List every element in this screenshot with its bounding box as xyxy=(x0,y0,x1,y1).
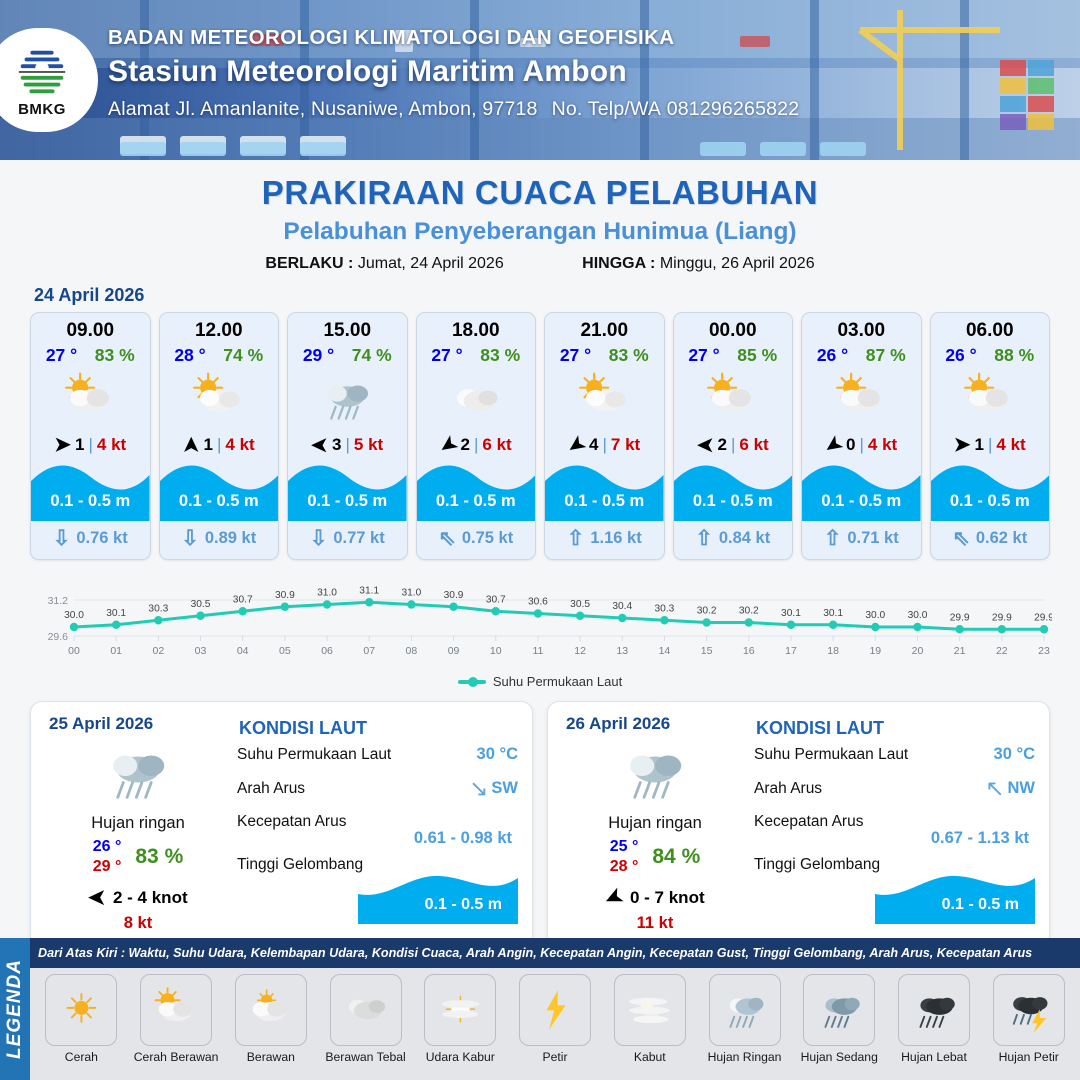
svg-text:01: 01 xyxy=(110,645,122,657)
panel-gust: 8 kt xyxy=(45,914,231,933)
legend-item: Hujan Petir xyxy=(981,974,1076,1064)
current-direction-arrow-icon: ⇖ xyxy=(438,526,456,551)
svg-text:30.0: 30.0 xyxy=(64,610,84,621)
panel-right: KONDISI LAUT Suhu Permukaan Laut 30 °C A… xyxy=(748,714,1035,936)
panel-wind-row: ➤ 2 - 4 knot xyxy=(45,887,231,908)
card-weather-icon xyxy=(31,368,150,430)
legend-note: Dari Atas Kiri : Waktu, Suhu Udara, Kele… xyxy=(38,946,1032,960)
legend-item-label: Udara Kabur xyxy=(426,1050,495,1064)
panel-wave-height: 0.1 - 0.5 m xyxy=(425,896,502,914)
legend-section: LEGENDA Dari Atas Kiri : Waktu, Suhu Uda… xyxy=(0,938,1080,1080)
card-wave-graphic: 0.1 - 0.5 m xyxy=(545,459,664,521)
sea-row-key: Kecepatan Arus xyxy=(237,813,346,831)
validity-line: BERLAKU : Jumat, 24 April 2026 HINGGA : … xyxy=(0,255,1080,273)
current-direction-arrow-icon: ↖ xyxy=(985,777,1004,800)
card-current-row: ⇧ 0.71 kt xyxy=(802,521,921,559)
svg-text:30.9: 30.9 xyxy=(444,590,464,601)
card-wave-height: 0.1 - 0.5 m xyxy=(31,492,150,511)
svg-text:19: 19 xyxy=(869,645,881,657)
card-wave-graphic: 0.1 - 0.5 m xyxy=(160,459,279,521)
current-direction-arrow-icon: ⇩ xyxy=(53,526,71,551)
card-wind-row: ➤ 1 | 4 kt xyxy=(931,430,1050,459)
svg-text:06: 06 xyxy=(321,645,333,657)
legend-item-label: Petir xyxy=(543,1050,568,1064)
legend-item-icon-lightning xyxy=(519,974,591,1046)
sea-row-key: Suhu Permukaan Laut xyxy=(237,746,391,764)
svg-text:30.7: 30.7 xyxy=(486,594,506,605)
forecast-card: 00.00 27 ° 85 % ➤ 2 | 6 kt 0.1 - 0.5 m ⇧… xyxy=(673,312,794,560)
card-wind-row: ➤ 2 | 6 kt xyxy=(674,430,793,459)
card-current-speed: 0.77 kt xyxy=(333,529,384,548)
legend-item: Berawan xyxy=(223,974,318,1064)
current-direction-arrow-icon: ⇧ xyxy=(824,526,842,551)
card-temp-humidity-row: 29 ° 74 % xyxy=(288,344,407,366)
panel-date: 26 April 2026 xyxy=(566,714,748,734)
legend-item-icon-rain-light xyxy=(709,974,781,1046)
legend-item-label: Hujan Petir xyxy=(999,1050,1059,1064)
svg-text:29.9: 29.9 xyxy=(1034,612,1052,623)
sea-row-value: 30 °C xyxy=(477,745,518,764)
card-wave-graphic: 0.1 - 0.5 m xyxy=(802,459,921,521)
card-weather-icon xyxy=(417,368,536,430)
card-wave-graphic: 0.1 - 0.5 m xyxy=(674,459,793,521)
svg-text:30.0: 30.0 xyxy=(908,610,928,621)
forecast-day-label: 24 April 2026 xyxy=(34,285,1080,306)
card-wind-direction: 0 xyxy=(846,435,855,455)
title-block: PRAKIRAAN CUACA PELABUHAN Pelabuhan Peny… xyxy=(0,160,1080,273)
card-current-row: ⇧ 1.16 kt xyxy=(545,521,664,559)
card-wind-row: ➤ 4 | 7 kt xyxy=(545,430,664,459)
card-wind-speed: 4 kt xyxy=(97,435,126,455)
card-temperature: 28 ° xyxy=(174,345,205,366)
svg-text:30.7: 30.7 xyxy=(233,594,253,605)
svg-text:30.5: 30.5 xyxy=(570,599,590,610)
card-time: 18.00 xyxy=(417,313,536,344)
wind-direction-arrow-icon: ➤ xyxy=(821,432,846,458)
svg-text:17: 17 xyxy=(785,645,797,657)
panel-temp-col: 26 ° 29 ° xyxy=(93,837,122,877)
legend-item: Petir xyxy=(508,974,603,1064)
sea-row-value: 30 °C xyxy=(994,745,1035,764)
card-wind-speed: 5 kt xyxy=(354,435,383,455)
card-humidity: 83 % xyxy=(480,345,520,366)
page-subtitle: Pelabuhan Penyeberangan Hunimua (Liang) xyxy=(0,218,1080,246)
current-direction-value: SW xyxy=(491,779,518,798)
sea-surface-temperature-chart: 31.229.630.00030.10130.30230.50330.70430… xyxy=(28,570,1052,670)
svg-text:23: 23 xyxy=(1038,645,1050,657)
card-temp-humidity-row: 26 ° 87 % xyxy=(802,344,921,366)
card-wind-row: ➤ 1 | 4 kt xyxy=(31,430,150,459)
svg-text:30.0: 30.0 xyxy=(865,610,885,621)
card-wind-row: ➤ 0 | 4 kt xyxy=(802,430,921,459)
current-direction-wrap: ↘ SW xyxy=(469,777,518,800)
card-temperature: 27 ° xyxy=(560,345,591,366)
legend-item-icon-rain-thunder xyxy=(993,974,1065,1046)
wind-direction-arrow-icon: ➤ xyxy=(88,887,106,908)
svg-text:21: 21 xyxy=(954,645,966,657)
panel-temperature-block: 26 ° 29 ° 83 % xyxy=(45,837,231,877)
svg-text:22: 22 xyxy=(996,645,1008,657)
svg-text:30.9: 30.9 xyxy=(275,590,295,601)
current-direction-arrow-icon: ⇩ xyxy=(310,526,328,551)
separator: | xyxy=(474,435,478,455)
svg-text:30.3: 30.3 xyxy=(655,603,675,614)
card-wave-height: 0.1 - 0.5 m xyxy=(674,492,793,511)
card-weather-icon xyxy=(288,368,407,430)
bmkg-logo-text: BMKG xyxy=(18,101,66,118)
card-temperature: 27 ° xyxy=(46,345,77,366)
current-direction-arrow-icon: ⇖ xyxy=(952,526,970,551)
svg-text:15: 15 xyxy=(701,645,713,657)
separator: | xyxy=(988,435,992,455)
sea-row-key: Arah Arus xyxy=(237,780,305,798)
daily-forecast-panel: 25 April 2026 Hujan ringan 26 ° 29 ° 83 … xyxy=(30,701,533,947)
panel-temperature-block: 25 ° 28 ° 84 % xyxy=(562,837,748,877)
legend-item: Cerah Berawan xyxy=(129,974,224,1064)
svg-text:18: 18 xyxy=(827,645,839,657)
legend-item: Hujan Sedang xyxy=(792,974,887,1064)
svg-text:30.3: 30.3 xyxy=(148,603,168,614)
panel-wind-range: 2 - 4 knot xyxy=(113,888,188,908)
agency-name: BADAN METEOROLOGI KLIMATOLOGI DAN GEOFIS… xyxy=(108,26,799,50)
forecast-card: 03.00 26 ° 87 % ➤ 0 | 4 kt 0.1 - 0.5 m ⇧… xyxy=(801,312,922,560)
forecast-card: 12.00 28 ° 74 % ➤ 1 | 4 kt 0.1 - 0.5 m ⇩… xyxy=(159,312,280,560)
legend-item-icon-fog xyxy=(614,974,686,1046)
card-time: 09.00 xyxy=(31,313,150,344)
sea-row: Suhu Permukaan Laut 30 °C xyxy=(754,745,1035,764)
svg-text:31.1: 31.1 xyxy=(359,585,379,596)
card-current-row: ⇧ 0.84 kt xyxy=(674,521,793,559)
phone-number: 081296265822 xyxy=(667,98,800,120)
wind-direction-arrow-icon: ➤ xyxy=(181,437,201,454)
card-wave-height: 0.1 - 0.5 m xyxy=(802,492,921,511)
current-direction-value: NW xyxy=(1008,779,1036,798)
legend-item-icon-sun xyxy=(45,974,117,1046)
forecast-card: 18.00 27 ° 83 % ➤ 2 | 6 kt 0.1 - 0.5 m ⇖… xyxy=(416,312,537,560)
card-humidity: 83 % xyxy=(95,345,135,366)
card-current-speed: 0.62 kt xyxy=(976,529,1027,548)
panel-wave-graphic: 0.1 - 0.5 m xyxy=(237,870,518,924)
card-wave-height: 0.1 - 0.5 m xyxy=(288,492,407,511)
card-wind-direction: 4 xyxy=(589,435,598,455)
svg-text:30.5: 30.5 xyxy=(191,599,211,610)
legend-item-label: Hujan Ringan xyxy=(708,1050,782,1064)
card-weather-icon xyxy=(802,368,921,430)
card-humidity: 85 % xyxy=(737,345,777,366)
sea-row-key: Kecepatan Arus xyxy=(754,813,863,831)
card-wave-height: 0.1 - 0.5 m xyxy=(931,492,1050,511)
panel-temp-min: 25 ° xyxy=(610,837,639,857)
card-wind-direction: 1 xyxy=(75,435,84,455)
svg-text:04: 04 xyxy=(237,645,249,657)
panel-temp-max: 29 ° xyxy=(93,857,122,877)
card-temperature: 27 ° xyxy=(431,345,462,366)
page-title: PRAKIRAAN CUACA PELABUHAN xyxy=(0,174,1080,212)
card-temp-humidity-row: 27 ° 83 % xyxy=(31,344,150,366)
forecast-card: 15.00 29 ° 74 % ➤ 3 | 5 kt 0.1 - 0.5 m ⇩… xyxy=(287,312,408,560)
card-humidity: 74 % xyxy=(352,345,392,366)
panel-right: KONDISI LAUT Suhu Permukaan Laut 30 °C A… xyxy=(231,714,518,936)
card-time: 12.00 xyxy=(160,313,279,344)
card-current-row: ⇩ 0.77 kt xyxy=(288,521,407,559)
header-text-block: BADAN METEOROLOGI KLIMATOLOGI DAN GEOFIS… xyxy=(108,26,799,121)
card-current-speed: 0.89 kt xyxy=(205,529,256,548)
current-direction-arrow-icon: ⇧ xyxy=(695,526,713,551)
card-temperature: 26 ° xyxy=(817,345,848,366)
card-wind-direction: 3 xyxy=(332,435,341,455)
valid-until-value: Minggu, 26 April 2026 xyxy=(660,255,815,272)
card-wind-row: ➤ 1 | 4 kt xyxy=(160,430,279,459)
svg-text:31.2: 31.2 xyxy=(48,595,69,607)
card-weather-icon xyxy=(674,368,793,430)
current-direction-arrow-icon: ⇧ xyxy=(567,526,585,551)
svg-text:14: 14 xyxy=(659,645,671,657)
legend-item-label: Hujan Lebat xyxy=(901,1050,967,1064)
card-wind-direction: 1 xyxy=(975,435,984,455)
phone-label: No. Telp/WA xyxy=(552,98,662,120)
page-header: BMKG BADAN METEOROLOGI KLIMATOLOGI DAN G… xyxy=(0,0,1080,160)
chart-legend: Suhu Permukaan Laut xyxy=(0,674,1080,689)
svg-text:11: 11 xyxy=(532,645,543,657)
chart-legend-marker-icon xyxy=(458,680,486,684)
legend-item: Berawan Tebal xyxy=(318,974,413,1064)
legend-item: Udara Kabur xyxy=(413,974,508,1064)
legend-item-icon-clouds xyxy=(330,974,402,1046)
panel-wave-graphic: 0.1 - 0.5 m xyxy=(754,870,1035,924)
svg-text:02: 02 xyxy=(153,645,165,657)
card-wave-height: 0.1 - 0.5 m xyxy=(417,492,536,511)
panel-humidity: 83 % xyxy=(135,845,183,869)
card-wind-direction: 1 xyxy=(204,435,213,455)
svg-text:31.0: 31.0 xyxy=(401,588,421,599)
panel-temp-col: 25 ° 28 ° xyxy=(610,837,639,877)
legend-item-label: Cerah xyxy=(65,1050,98,1064)
card-wave-graphic: 0.1 - 0.5 m xyxy=(931,459,1050,521)
legend-item-icon-cloud-sun-small xyxy=(235,974,307,1046)
svg-text:20: 20 xyxy=(912,645,924,657)
svg-text:29.9: 29.9 xyxy=(950,612,970,623)
current-direction-arrow-icon: ↘ xyxy=(469,777,488,800)
station-name: Stasiun Meteorologi Maritim Ambon xyxy=(108,55,799,89)
panel-wind-range: 0 - 7 knot xyxy=(630,888,705,908)
card-wave-height: 0.1 - 0.5 m xyxy=(160,492,279,511)
valid-from-label: BERLAKU : xyxy=(265,255,353,272)
card-temp-humidity-row: 27 ° 83 % xyxy=(417,344,536,366)
panel-date: 25 April 2026 xyxy=(49,714,231,734)
current-direction-wrap: ↖ NW xyxy=(985,777,1035,800)
wind-direction-arrow-icon: ➤ xyxy=(311,435,328,455)
card-wind-row: ➤ 2 | 6 kt xyxy=(417,430,536,459)
svg-text:05: 05 xyxy=(279,645,291,657)
card-wave-height: 0.1 - 0.5 m xyxy=(545,492,664,511)
separator: | xyxy=(860,435,864,455)
legend-item: Hujan Lebat xyxy=(887,974,982,1064)
svg-text:00: 00 xyxy=(68,645,80,657)
svg-text:09: 09 xyxy=(448,645,460,657)
daily-forecast-panels: 25 April 2026 Hujan ringan 26 ° 29 ° 83 … xyxy=(0,689,1080,947)
svg-text:30.1: 30.1 xyxy=(781,608,801,619)
card-humidity: 87 % xyxy=(866,345,906,366)
svg-text:31.0: 31.0 xyxy=(317,588,337,599)
sea-row: Arah Arus ↖ NW xyxy=(754,777,1035,800)
panel-temp-max: 28 ° xyxy=(610,857,639,877)
forecast-card: 21.00 27 ° 83 % ➤ 4 | 7 kt 0.1 - 0.5 m ⇧… xyxy=(544,312,665,560)
card-temp-humidity-row: 27 ° 85 % xyxy=(674,344,793,366)
wind-direction-arrow-icon: ➤ xyxy=(564,432,589,458)
svg-text:29.6: 29.6 xyxy=(48,631,69,643)
forecast-card: 06.00 26 ° 88 % ➤ 1 | 4 kt 0.1 - 0.5 m ⇖… xyxy=(930,312,1051,560)
legend-item: Hujan Ringan xyxy=(697,974,792,1064)
card-wind-speed: 4 kt xyxy=(225,435,254,455)
separator: | xyxy=(217,435,221,455)
panel-current-speed: 0.61 - 0.98 kt xyxy=(237,829,518,848)
card-wind-direction: 2 xyxy=(461,435,470,455)
card-temperature: 29 ° xyxy=(303,345,334,366)
wind-direction-arrow-icon: ➤ xyxy=(954,435,971,455)
panel-temp-min: 26 ° xyxy=(93,837,122,857)
hourly-forecast-row: 09.00 27 ° 83 % ➤ 1 | 4 kt 0.1 - 0.5 m ⇩… xyxy=(0,312,1080,560)
sea-condition-title: KONDISI LAUT xyxy=(239,718,518,739)
panel-condition: Hujan ringan xyxy=(45,814,231,833)
panel-humidity: 84 % xyxy=(652,845,700,869)
wind-direction-arrow-icon: ➤ xyxy=(602,884,627,910)
card-current-speed: 0.76 kt xyxy=(76,529,127,548)
forecast-card: 09.00 27 ° 83 % ➤ 1 | 4 kt 0.1 - 0.5 m ⇩… xyxy=(30,312,151,560)
card-weather-icon xyxy=(160,368,279,430)
panel-condition: Hujan ringan xyxy=(562,814,748,833)
card-current-speed: 0.71 kt xyxy=(847,529,898,548)
card-wind-speed: 4 kt xyxy=(868,435,897,455)
panel-weather-icon xyxy=(562,736,748,810)
legend-icon-row: Cerah Cerah Berawan Berawan Berawan Teba… xyxy=(30,968,1080,1080)
card-temp-humidity-row: 28 ° 74 % xyxy=(160,344,279,366)
legend-item-icon-haze xyxy=(424,974,496,1046)
legend-item: Cerah xyxy=(34,974,129,1064)
legend-side-text: LEGENDA xyxy=(4,959,26,1059)
legend-item-icon-rain-heavy xyxy=(898,974,970,1046)
svg-text:29.9: 29.9 xyxy=(992,612,1012,623)
svg-text:13: 13 xyxy=(616,645,628,657)
card-time: 00.00 xyxy=(674,313,793,344)
card-current-speed: 0.75 kt xyxy=(462,529,513,548)
sea-row: Arah Arus ↘ SW xyxy=(237,777,518,800)
card-wave-graphic: 0.1 - 0.5 m xyxy=(417,459,536,521)
card-current-row: ⇩ 0.76 kt xyxy=(31,521,150,559)
card-temperature: 26 ° xyxy=(945,345,976,366)
card-current-row: ⇖ 0.75 kt xyxy=(417,521,536,559)
chart-legend-label: Suhu Permukaan Laut xyxy=(493,674,622,689)
valid-until: HINGGA : Minggu, 26 April 2026 xyxy=(582,255,814,273)
legend-item-label: Berawan xyxy=(247,1050,295,1064)
separator: | xyxy=(603,435,607,455)
svg-text:30.1: 30.1 xyxy=(106,608,126,619)
svg-text:16: 16 xyxy=(743,645,755,657)
valid-until-label: HINGGA : xyxy=(582,255,655,272)
address-text: Alamat Jl. Amanlanite, Nusaniwe, Ambon, … xyxy=(108,98,538,120)
card-wave-graphic: 0.1 - 0.5 m xyxy=(288,459,407,521)
card-humidity: 83 % xyxy=(609,345,649,366)
card-temperature: 27 ° xyxy=(688,345,719,366)
card-wind-speed: 6 kt xyxy=(482,435,511,455)
panel-left: 26 April 2026 Hujan ringan 25 ° 28 ° 84 … xyxy=(562,714,748,936)
legend-item: Kabut xyxy=(602,974,697,1064)
panel-wind-row: ➤ 0 - 7 knot xyxy=(562,887,748,908)
wind-direction-arrow-icon: ➤ xyxy=(436,432,461,458)
svg-text:30.2: 30.2 xyxy=(739,606,759,617)
panel-wave-height: 0.1 - 0.5 m xyxy=(942,896,1019,914)
card-temp-humidity-row: 27 ° 83 % xyxy=(545,344,664,366)
separator: | xyxy=(731,435,735,455)
card-weather-icon xyxy=(931,368,1050,430)
card-current-row: ⇖ 0.62 kt xyxy=(931,521,1050,559)
legend-item-label: Cerah Berawan xyxy=(134,1050,219,1064)
sea-row-key: Suhu Permukaan Laut xyxy=(754,746,908,764)
card-weather-icon xyxy=(545,368,664,430)
separator: | xyxy=(346,435,350,455)
daily-forecast-panel: 26 April 2026 Hujan ringan 25 ° 28 ° 84 … xyxy=(547,701,1050,947)
sea-condition-title: KONDISI LAUT xyxy=(756,718,1035,739)
svg-text:30.1: 30.1 xyxy=(823,608,843,619)
panel-weather-icon xyxy=(45,736,231,810)
card-wind-direction: 2 xyxy=(718,435,727,455)
card-wind-row: ➤ 3 | 5 kt xyxy=(288,430,407,459)
card-time: 03.00 xyxy=(802,313,921,344)
legend-side-label: LEGENDA xyxy=(0,938,30,1080)
card-current-speed: 0.84 kt xyxy=(719,529,770,548)
bmkg-emblem-icon xyxy=(13,42,71,100)
panel-left: 25 April 2026 Hujan ringan 26 ° 29 ° 83 … xyxy=(45,714,231,936)
legend-item-icon-sun-cloud xyxy=(140,974,212,1046)
wind-direction-arrow-icon: ➤ xyxy=(697,435,714,455)
legend-item-label: Berawan Tebal xyxy=(325,1050,405,1064)
legend-item-label: Kabut xyxy=(634,1050,666,1064)
panel-current-speed: 0.67 - 1.13 kt xyxy=(754,829,1035,848)
contact-line: Alamat Jl. Amanlanite, Nusaniwe, Ambon, … xyxy=(108,98,799,121)
wind-direction-arrow-icon: ➤ xyxy=(54,435,71,455)
card-time: 21.00 xyxy=(545,313,664,344)
card-temp-humidity-row: 26 ° 88 % xyxy=(931,344,1050,366)
svg-text:08: 08 xyxy=(406,645,418,657)
svg-text:10: 10 xyxy=(490,645,502,657)
card-wave-graphic: 0.1 - 0.5 m xyxy=(31,459,150,521)
panel-gust: 11 kt xyxy=(562,914,748,933)
current-direction-arrow-icon: ⇩ xyxy=(181,526,199,551)
svg-text:12: 12 xyxy=(574,645,586,657)
sea-row: Suhu Permukaan Laut 30 °C xyxy=(237,745,518,764)
legend-item-icon-rain-medium xyxy=(803,974,875,1046)
valid-from: BERLAKU : Jumat, 24 April 2026 xyxy=(265,255,503,273)
card-wind-speed: 6 kt xyxy=(739,435,768,455)
sea-row-key: Arah Arus xyxy=(754,780,822,798)
card-current-speed: 1.16 kt xyxy=(590,529,641,548)
legend-item-label: Hujan Sedang xyxy=(801,1050,878,1064)
card-wind-speed: 4 kt xyxy=(996,435,1025,455)
valid-from-value: Jumat, 24 April 2026 xyxy=(358,255,504,272)
svg-text:30.6: 30.6 xyxy=(528,597,548,608)
card-humidity: 88 % xyxy=(994,345,1034,366)
card-time: 15.00 xyxy=(288,313,407,344)
card-humidity: 74 % xyxy=(223,345,263,366)
svg-text:30.2: 30.2 xyxy=(697,606,717,617)
svg-text:03: 03 xyxy=(195,645,207,657)
svg-text:30.4: 30.4 xyxy=(612,601,632,612)
card-time: 06.00 xyxy=(931,313,1050,344)
separator: | xyxy=(89,435,93,455)
card-wind-speed: 7 kt xyxy=(611,435,640,455)
card-current-row: ⇩ 0.89 kt xyxy=(160,521,279,559)
svg-text:07: 07 xyxy=(363,645,375,657)
